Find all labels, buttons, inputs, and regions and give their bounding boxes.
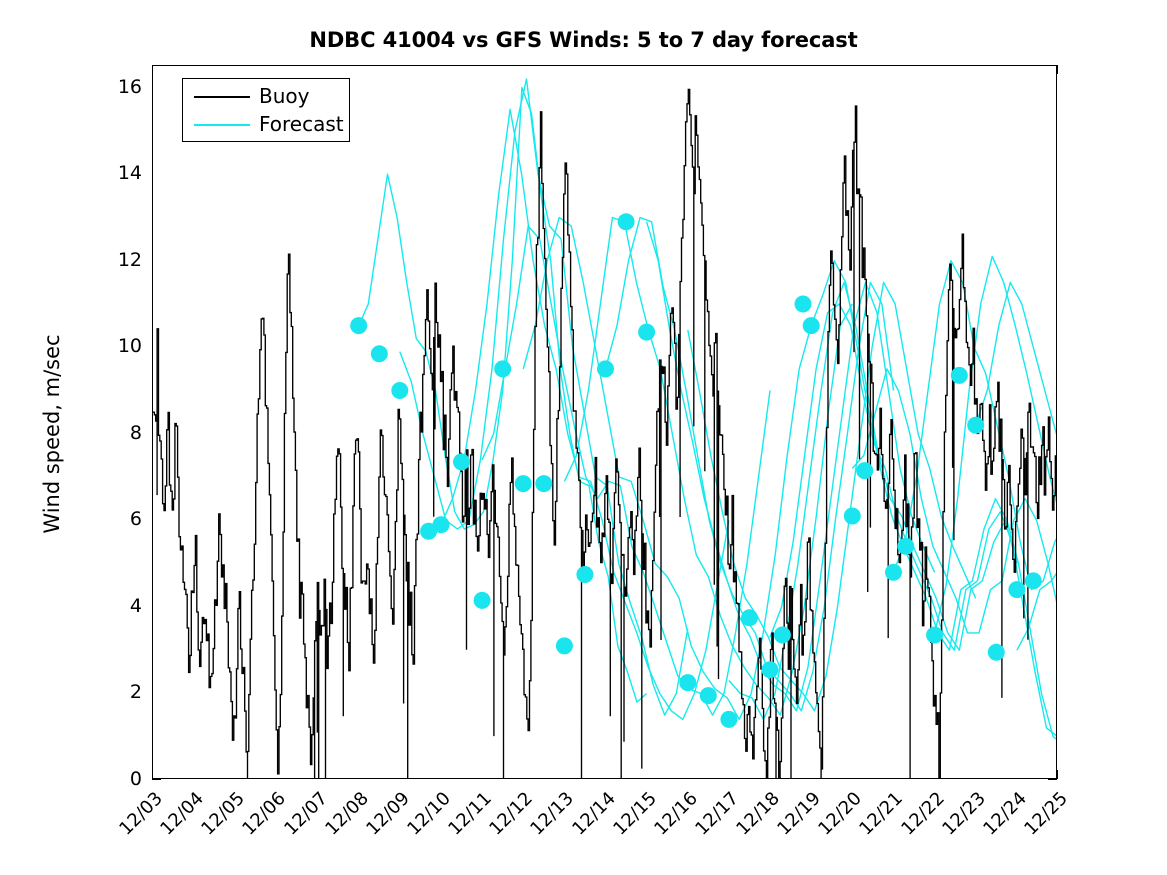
legend-swatch-buoy [194, 96, 250, 98]
y-tick-label: 4 [80, 595, 142, 617]
forecast-line [811, 261, 1057, 746]
chart-legend: Buoy Forecast [182, 78, 350, 142]
forecast-start-marker [618, 213, 635, 230]
forecast-start-marker [453, 453, 470, 470]
forecast-line [894, 261, 1058, 737]
forecast-start-marker [951, 367, 968, 384]
x-tick-mark [1057, 770, 1058, 779]
y-tick-mark-right [1048, 779, 1057, 780]
chart-figure: NDBC 41004 vs GFS Winds: 5 to 7 day fore… [0, 0, 1167, 875]
forecast-start-marker [433, 516, 450, 533]
forecast-start-marker [1008, 581, 1025, 598]
legend-label-forecast: Forecast [259, 110, 344, 138]
legend-label-buoy: Buoy [259, 82, 309, 110]
forecast-start-marker [576, 566, 593, 583]
buoy-series-group [153, 89, 1057, 779]
forecast-line [976, 282, 1057, 728]
forecast-start-marker [638, 324, 655, 341]
forecast-line [482, 226, 770, 715]
forecast-start-marker [926, 627, 943, 644]
forecast-start-marker [350, 317, 367, 334]
y-axis-label: Wind speed, m/sec [40, 154, 64, 714]
forecast-line [564, 218, 852, 716]
y-tick-label: 12 [80, 249, 142, 271]
forecast-line [852, 369, 1057, 750]
forecast-start-marker [494, 360, 511, 377]
y-tick-label: 0 [80, 768, 142, 790]
y-tick-label: 14 [80, 162, 142, 184]
forecast-start-marker [885, 564, 902, 581]
forecast-start-marker [535, 475, 552, 492]
y-tick-label: 10 [80, 335, 142, 357]
forecast-start-marker [679, 674, 696, 691]
y-tick-label: 16 [80, 76, 142, 98]
legend-entry-forecast: Forecast [183, 111, 351, 139]
legend-swatch-forecast [194, 124, 250, 126]
forecast-start-marker [700, 687, 717, 704]
forecast-start-marker [897, 538, 914, 555]
forecast-start-marker [597, 360, 614, 377]
buoy-line [153, 89, 1057, 779]
forecast-start-marker [803, 317, 820, 334]
y-tick-label: 2 [80, 681, 142, 703]
forecast-start-marker [474, 592, 491, 609]
y-tick-label: 6 [80, 508, 142, 530]
forecast-start-marker [371, 345, 388, 362]
forecast-start-marker [967, 417, 984, 434]
forecast-start-marker [844, 508, 861, 525]
x-tick-mark-top [1057, 65, 1058, 74]
forecast-start-marker [391, 382, 408, 399]
forecast-start-marker [515, 475, 532, 492]
forecast-start-marker [762, 661, 779, 678]
forecast-start-marker [1025, 572, 1042, 589]
forecast-start-marker [720, 711, 737, 728]
forecast-start-marker [774, 627, 791, 644]
forecast-marker-group [350, 213, 1042, 728]
forecast-start-marker [856, 462, 873, 479]
forecast-start-marker [556, 637, 573, 654]
y-tick-mark [152, 779, 161, 780]
forecast-start-marker [741, 609, 758, 626]
y-tick-label: 8 [80, 422, 142, 444]
chart-title: NDBC 41004 vs GFS Winds: 5 to 7 day fore… [0, 28, 1167, 52]
forecast-start-marker [795, 296, 812, 313]
plot-area: Buoy Forecast [152, 65, 1057, 779]
legend-entry-buoy: Buoy [183, 83, 351, 111]
plot-svg [153, 66, 1057, 779]
forecast-start-marker [988, 644, 1005, 661]
